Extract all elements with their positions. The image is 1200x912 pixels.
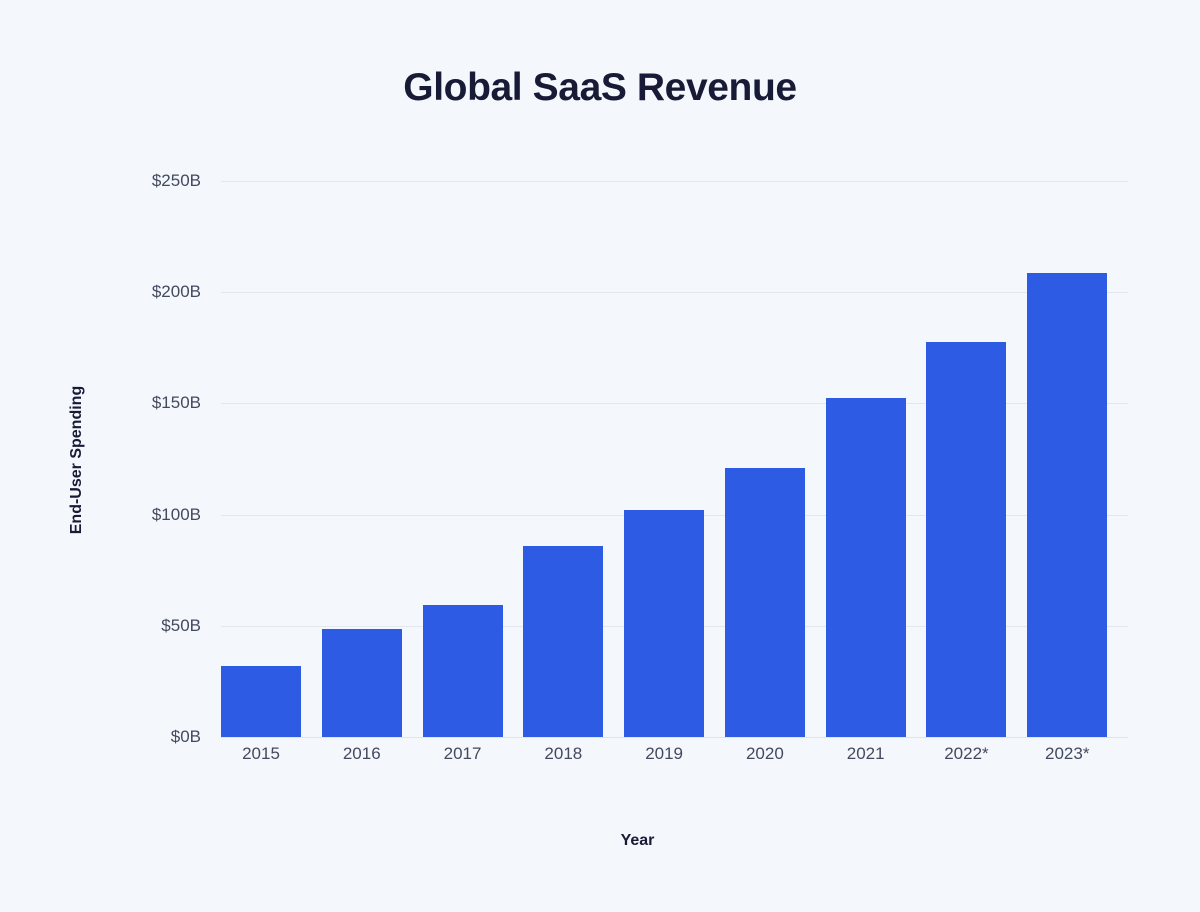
bar-slot xyxy=(523,181,624,737)
bar[interactable] xyxy=(423,605,503,737)
x-axis-tick-label: 2023* xyxy=(1027,744,1128,764)
chart-title: Global SaaS Revenue xyxy=(0,66,1200,110)
y-axis-tick-labels: $0B$50B$100B$150B$200B$250B xyxy=(121,181,201,737)
bar-slot xyxy=(826,181,927,737)
y-axis-tick-label: $50B xyxy=(121,616,201,636)
y-axis-title-label: End-User Spending xyxy=(68,340,86,580)
bar[interactable] xyxy=(523,546,603,737)
plot-area xyxy=(221,181,1128,737)
gridline xyxy=(221,737,1128,738)
y-axis-tick-label: $100B xyxy=(121,505,201,525)
bar-series xyxy=(221,181,1128,737)
x-axis-tick-label-text: 2018 xyxy=(523,744,603,764)
x-axis-tick-label: 2017 xyxy=(423,744,524,764)
x-axis-tick-label: 2022* xyxy=(926,744,1027,764)
x-axis-tick-label: 2019 xyxy=(624,744,725,764)
bar-slot xyxy=(725,181,826,737)
bar[interactable] xyxy=(1027,273,1107,737)
x-axis-tick-label-text: 2021 xyxy=(826,744,906,764)
bar[interactable] xyxy=(221,666,301,737)
x-axis-tick-label-text: 2016 xyxy=(322,744,402,764)
x-axis-tick-label-text: 2019 xyxy=(624,744,704,764)
x-axis-tick-label-text: 2020 xyxy=(725,744,805,764)
bar[interactable] xyxy=(322,629,402,737)
y-axis-tick-label: $0B xyxy=(121,727,201,747)
bar[interactable] xyxy=(926,342,1006,737)
x-axis-tick-label-text: 2015 xyxy=(221,744,301,764)
x-axis-tick-label-text: 2017 xyxy=(423,744,503,764)
x-axis-tick-label: 2018 xyxy=(523,744,624,764)
bar[interactable] xyxy=(624,510,704,737)
x-axis-tick-labels: 20152016201720182019202020212022*2023* xyxy=(221,744,1128,772)
y-axis-tick-label: $150B xyxy=(121,393,201,413)
bar-slot xyxy=(221,181,322,737)
bar[interactable] xyxy=(725,468,805,737)
x-axis-tick-label: 2020 xyxy=(725,744,826,764)
bar[interactable] xyxy=(826,398,906,737)
y-axis-title: End-User Spending xyxy=(34,100,52,340)
y-axis-tick-label: $250B xyxy=(121,171,201,191)
x-axis-tick-label: 2016 xyxy=(322,744,423,764)
x-axis-tick-label: 2015 xyxy=(221,744,322,764)
x-axis-tick-label-text: 2022* xyxy=(926,744,1006,764)
bar-slot xyxy=(926,181,1027,737)
bar-slot xyxy=(423,181,524,737)
x-axis-tick-label-text: 2023* xyxy=(1027,744,1107,764)
x-axis-title: Year xyxy=(0,832,1200,850)
y-axis-tick-label: $200B xyxy=(121,282,201,302)
bar-slot xyxy=(1027,181,1128,737)
bar-slot xyxy=(624,181,725,737)
bar-chart: Global SaaS Revenue End-User Spending $0… xyxy=(0,0,1200,912)
bar-slot xyxy=(322,181,423,737)
x-axis-tick-label: 2021 xyxy=(826,744,927,764)
